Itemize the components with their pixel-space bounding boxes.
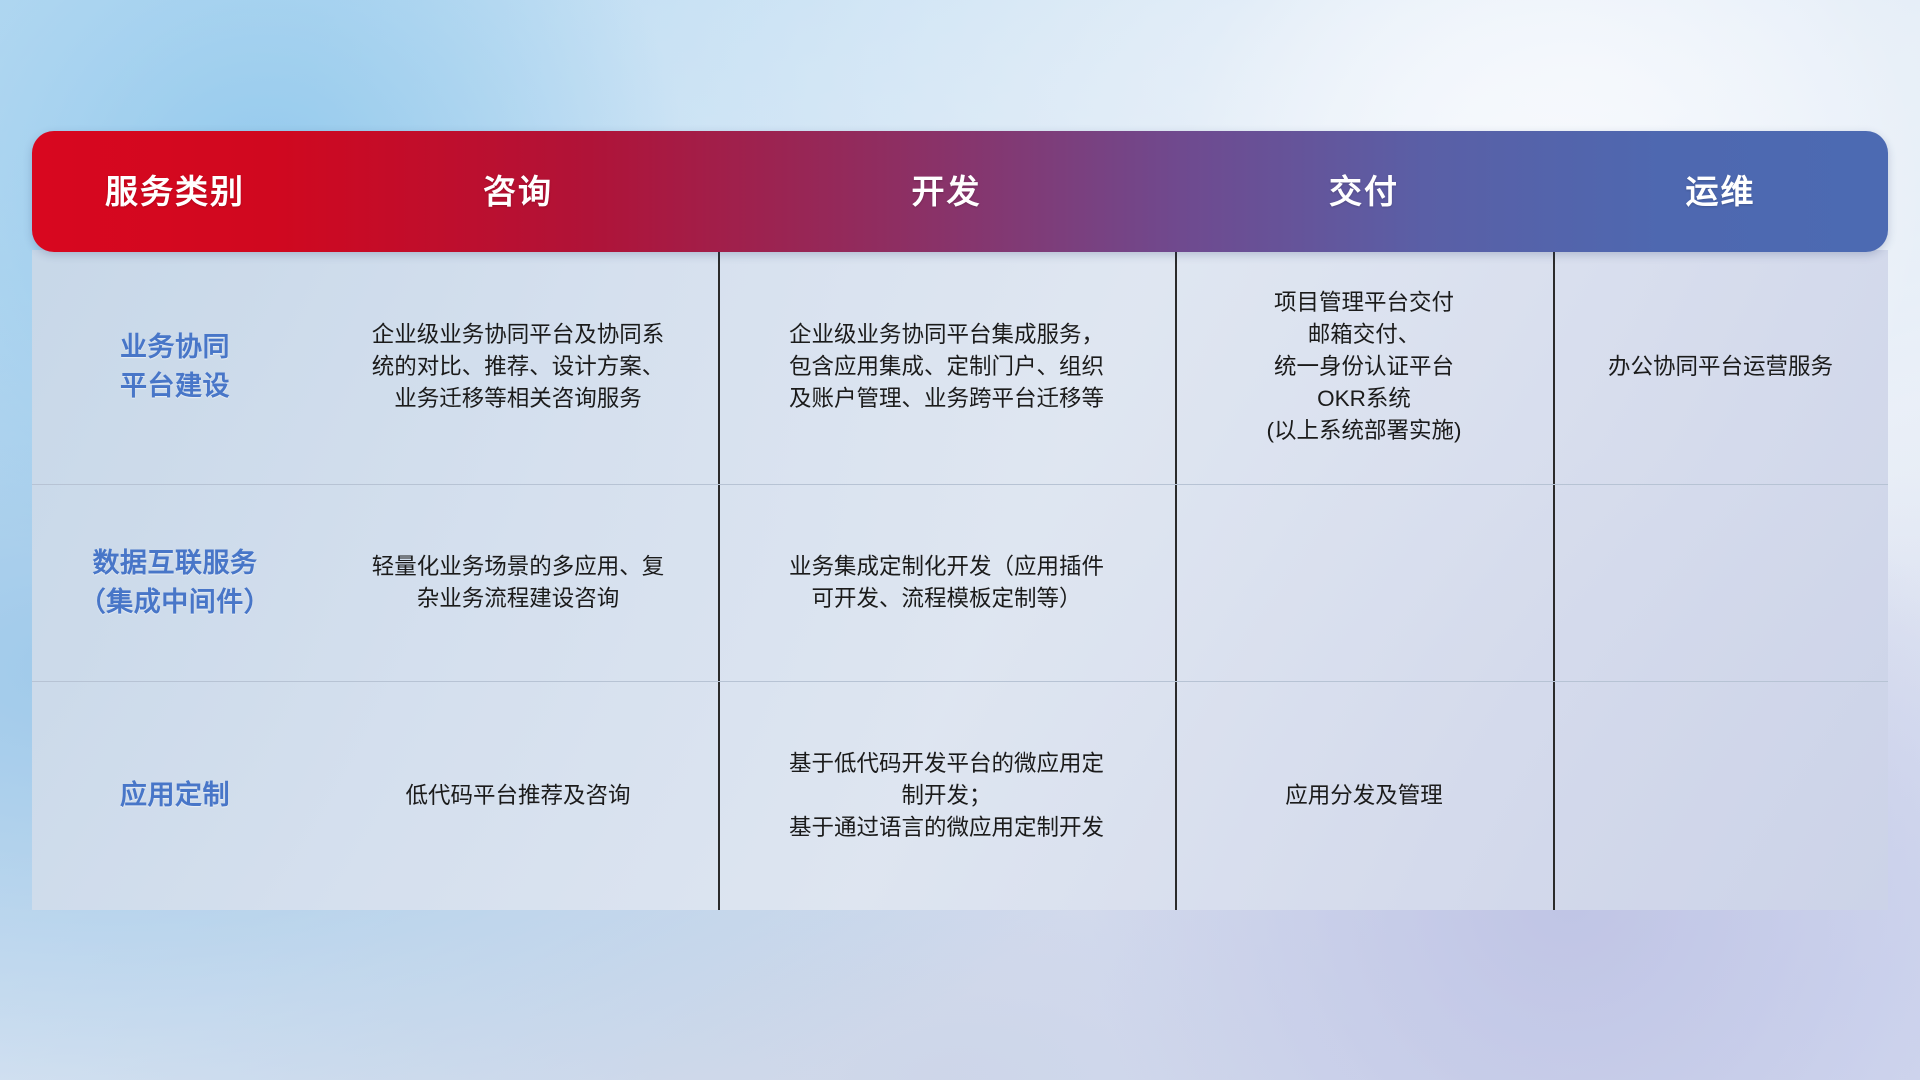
table-header-cell-category: 服务类别 (32, 131, 318, 252)
table-header-cell-development: 开发 (718, 131, 1175, 252)
cell-development: 企业级业务协同平台集成服务， 包含应用集成、定制门户、组织 及账户管理、业务跨平… (718, 250, 1175, 484)
service-matrix-table: 服务类别 咨询 开发 交付 运维 业务协同 平台建设 企业级业务协同平台及协同系… (32, 131, 1888, 910)
cell-consulting: 企业级业务协同平台及协同系 统的对比、推荐、设计方案、 业务迁移等相关咨询服务 (318, 250, 718, 484)
cell-consulting: 低代码平台推荐及咨询 (318, 682, 718, 910)
cell-development: 基于低代码开发平台的微应用定 制开发； 基于通过语言的微应用定制开发 (718, 682, 1175, 910)
row-category-label: 业务协同 平台建设 (32, 250, 318, 484)
table-row: 应用定制 低代码平台推荐及咨询 基于低代码开发平台的微应用定 制开发； 基于通过… (32, 681, 1888, 910)
row-category-label: 应用定制 (32, 682, 318, 910)
row-category-label: 数据互联服务 （集成中间件） (32, 485, 318, 681)
cell-operations (1553, 682, 1888, 910)
table-row: 业务协同 平台建设 企业级业务协同平台及协同系 统的对比、推荐、设计方案、 业务… (32, 250, 1888, 484)
table-header-row: 服务类别 咨询 开发 交付 运维 (32, 131, 1888, 252)
table-header-cell-delivery: 交付 (1175, 131, 1553, 252)
table-header-cell-operations: 运维 (1553, 131, 1888, 252)
cell-delivery: 应用分发及管理 (1175, 682, 1553, 910)
cell-delivery (1175, 485, 1553, 681)
cell-consulting: 轻量化业务场景的多应用、复 杂业务流程建设咨询 (318, 485, 718, 681)
cell-development: 业务集成定制化开发（应用插件 可开发、流程模板定制等） (718, 485, 1175, 681)
cell-delivery: 项目管理平台交付 邮箱交付、 统一身份认证平台 OKR系统 (以上系统部署实施) (1175, 250, 1553, 484)
table-header-cell-consulting: 咨询 (318, 131, 718, 252)
cell-operations: 办公协同平台运营服务 (1553, 250, 1888, 484)
cell-operations (1553, 485, 1888, 681)
table-body: 业务协同 平台建设 企业级业务协同平台及协同系 统的对比、推荐、设计方案、 业务… (32, 250, 1888, 910)
table-row: 数据互联服务 （集成中间件） 轻量化业务场景的多应用、复 杂业务流程建设咨询 业… (32, 484, 1888, 681)
